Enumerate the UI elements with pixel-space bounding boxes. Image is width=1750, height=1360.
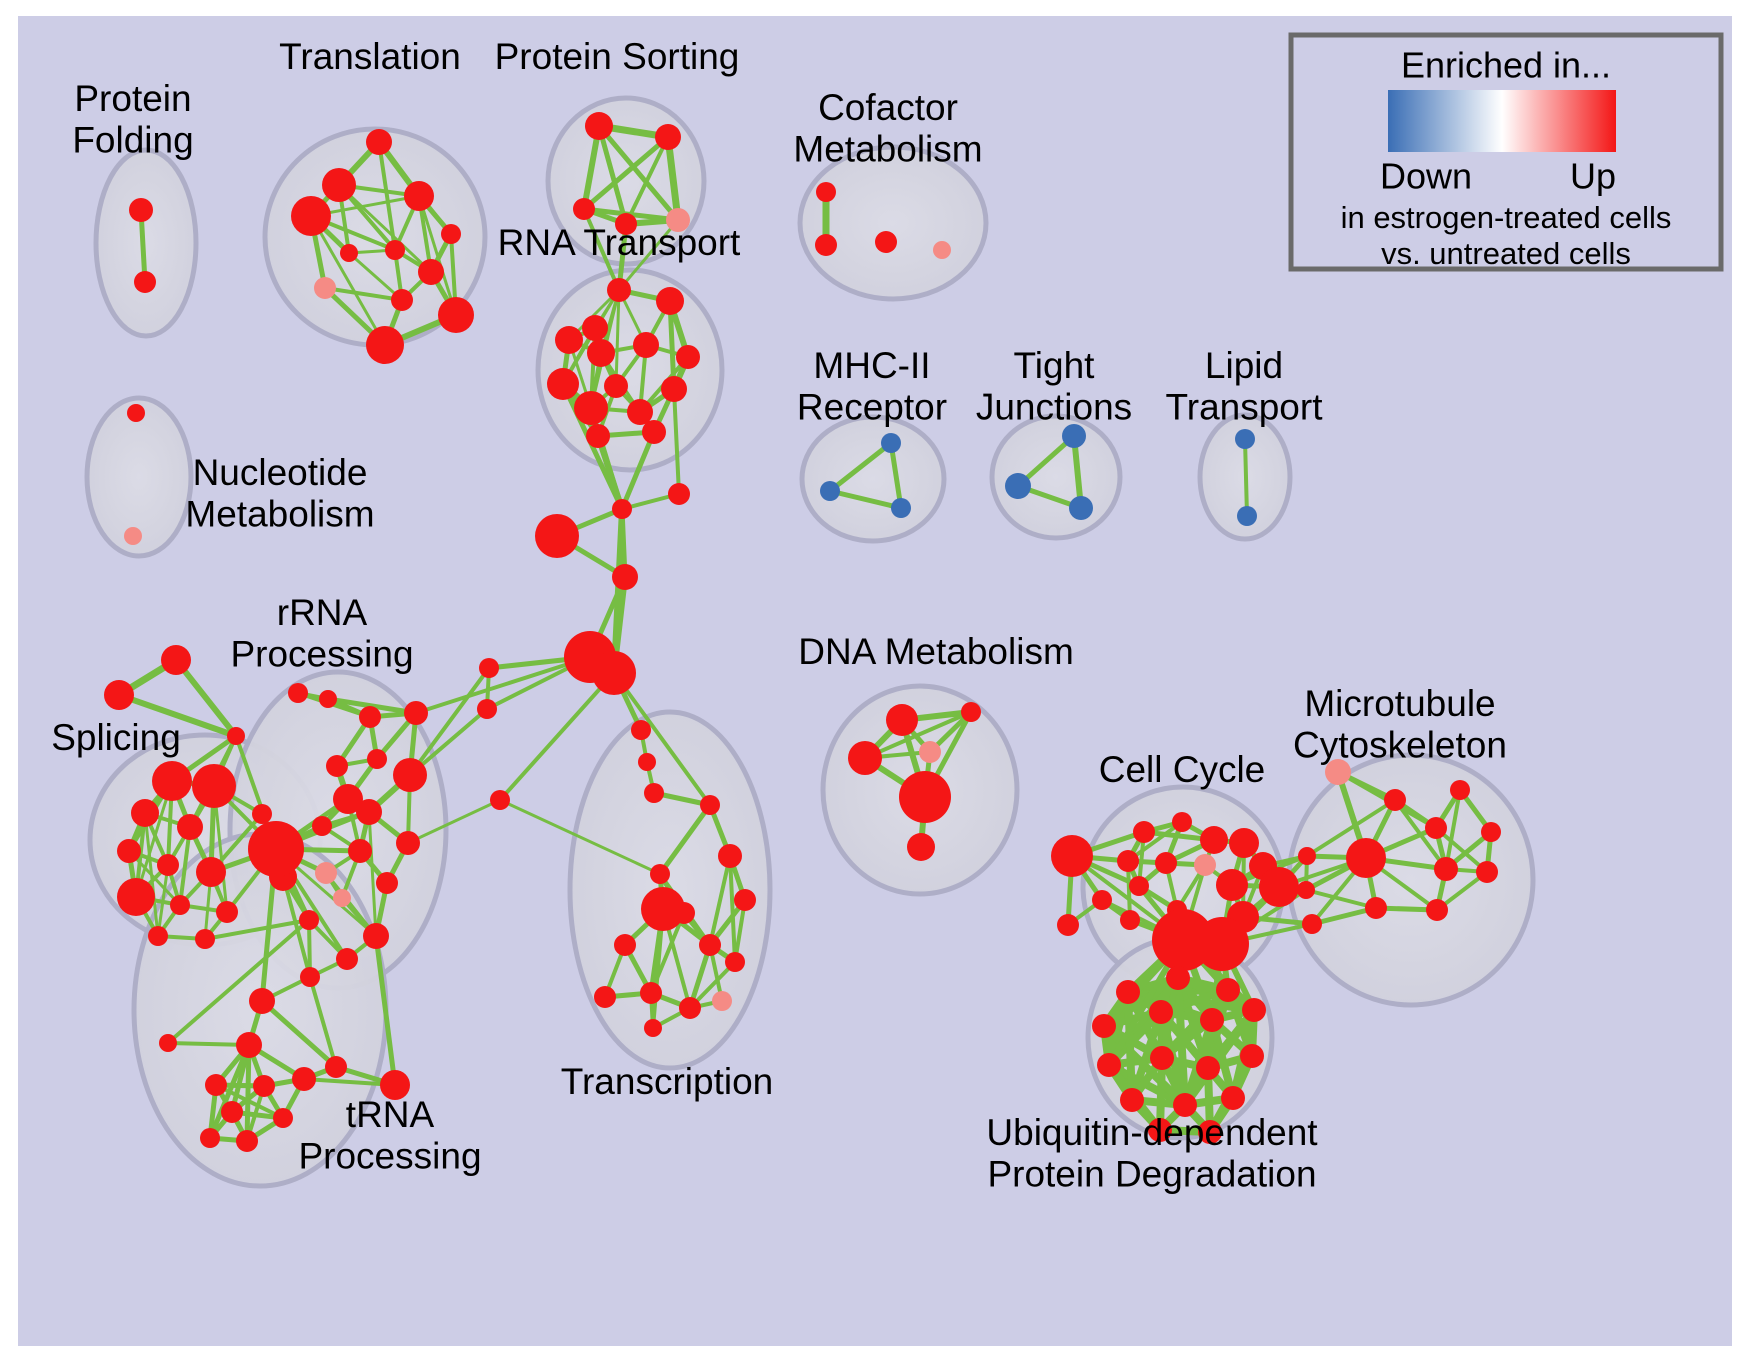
node-rrna-processing[interactable] <box>325 1056 347 1078</box>
node-translation[interactable] <box>391 289 413 311</box>
cluster-label-microtubule-cytoskeleton: MicrotubuleCytoskeleton <box>1293 683 1507 765</box>
node-microtubule-cytoskeleton[interactable] <box>1384 789 1406 811</box>
node-trna-processing[interactable] <box>236 1032 262 1058</box>
cluster-label-nucleotide-metabolism: NucleotideMetabolism <box>185 452 374 534</box>
node-splicing[interactable] <box>170 895 190 915</box>
node-tight-junctions[interactable] <box>1005 473 1031 499</box>
node-cofactor-metabolism[interactable] <box>816 182 836 202</box>
node-translation[interactable] <box>291 196 331 236</box>
node-rna-transport[interactable] <box>547 368 579 400</box>
node-ubiquitin-degradation[interactable] <box>1120 1088 1144 1112</box>
node-splicing[interactable] <box>152 761 192 801</box>
cluster-label-protein-folding: ProteinFolding <box>72 78 193 160</box>
node-splicing[interactable] <box>117 878 155 916</box>
node-ubiquitin-degradation[interactable] <box>1196 1056 1220 1080</box>
node-translation[interactable] <box>441 224 461 244</box>
node-rna-transport[interactable] <box>633 332 659 358</box>
node-rrna-processing[interactable] <box>312 816 332 836</box>
node-ubiquitin-degradation[interactable] <box>1216 978 1240 1002</box>
cluster-halo-mhc-ii-receptor <box>802 417 944 541</box>
node-protein-folding[interactable] <box>134 271 156 293</box>
node-rrna-processing[interactable] <box>367 749 387 769</box>
cluster-label-splicing: Splicing <box>51 717 181 758</box>
node-bridge[interactable] <box>612 499 632 519</box>
node-translation[interactable] <box>322 168 356 202</box>
edge-lipid-transport <box>1245 439 1247 516</box>
node-dna-metabolism[interactable] <box>848 741 882 775</box>
node-bridge[interactable] <box>479 658 499 678</box>
node-cell-cycle[interactable] <box>1120 910 1140 930</box>
node-bridge[interactable] <box>668 483 690 505</box>
node-translation[interactable] <box>340 244 358 262</box>
node-rrna-processing[interactable] <box>300 967 320 987</box>
node-cell-cycle[interactable] <box>1194 854 1216 876</box>
node-microtubule-cytoskeleton[interactable] <box>1434 857 1458 881</box>
node-cofactor-metabolism[interactable] <box>875 231 897 253</box>
node-translation[interactable] <box>314 277 336 299</box>
node-trna-processing[interactable] <box>292 1067 316 1091</box>
node-ubiquitin-degradation[interactable] <box>1097 1053 1121 1077</box>
node-trna-processing[interactable] <box>273 1108 293 1128</box>
node-dna-metabolism[interactable] <box>919 741 941 763</box>
node-dna-metabolism[interactable] <box>907 833 935 861</box>
cluster-label-ubiquitin-degradation: Ubiquitin-dependentProtein Degradation <box>986 1112 1318 1194</box>
node-bridge[interactable] <box>477 699 497 719</box>
node-rrna-processing[interactable] <box>288 683 308 703</box>
node-trna-processing[interactable] <box>159 1034 177 1052</box>
edge-trna-processing <box>247 1045 249 1141</box>
node-rrna-processing[interactable] <box>363 923 389 949</box>
node-protein-sorting[interactable] <box>585 112 613 140</box>
cluster-label-transcription: Transcription <box>561 1061 773 1102</box>
node-ubiquitin-degradation[interactable] <box>1221 1086 1245 1110</box>
node-transcription[interactable] <box>641 887 685 931</box>
node-ubiquitin-degradation[interactable] <box>1149 1000 1173 1024</box>
node-transcription[interactable] <box>640 982 662 1004</box>
node-rrna-processing[interactable] <box>326 755 348 777</box>
legend-caption-line-2: vs. untreated cells <box>1381 236 1631 271</box>
node-rna-transport[interactable] <box>582 315 608 341</box>
node-splicing[interactable] <box>177 814 203 840</box>
node-mhc-ii-receptor[interactable] <box>881 433 901 453</box>
node-trna-processing[interactable] <box>236 1130 258 1152</box>
cluster-label-dna-metabolism: DNA Metabolism <box>798 631 1074 672</box>
node-protein-sorting[interactable] <box>573 198 595 220</box>
enrichment-map-figure: ProteinFoldingTranslationProtein Sorting… <box>0 0 1750 1360</box>
node-transcription[interactable] <box>594 986 616 1008</box>
node-splicing[interactable] <box>196 857 226 887</box>
node-rna-transport[interactable] <box>586 424 610 448</box>
node-protein-sorting[interactable] <box>655 124 681 150</box>
node-rrna-processing[interactable] <box>404 701 428 725</box>
node-rrna-processing[interactable] <box>396 831 420 855</box>
node-bridge[interactable] <box>592 651 636 695</box>
node-dna-metabolism[interactable] <box>899 771 951 823</box>
node-splicing[interactable] <box>192 764 236 808</box>
legend-title: Enriched in... <box>1401 45 1611 86</box>
node-trna-processing[interactable] <box>205 1074 227 1096</box>
network-canvas: ProteinFoldingTranslationProtein Sorting… <box>0 0 1750 1360</box>
node-rrna-processing[interactable] <box>249 988 275 1014</box>
node-rrna-processing[interactable] <box>248 821 304 877</box>
node-rrna-processing[interactable] <box>359 706 381 728</box>
cluster-label-mhc-ii-receptor: MHC-IIReceptor <box>797 345 947 427</box>
node-microtubule-cytoskeleton[interactable] <box>1298 847 1316 865</box>
node-ubiquitin-degradation[interactable] <box>1240 1044 1264 1068</box>
node-translation[interactable] <box>438 297 474 333</box>
node-ubiquitin-degradation[interactable] <box>1092 1014 1116 1038</box>
node-cell-cycle[interactable] <box>1172 812 1192 832</box>
cluster-label-protein-sorting: Protein Sorting <box>495 36 740 77</box>
node-splicing[interactable] <box>148 926 168 946</box>
node-transcription[interactable] <box>614 934 636 956</box>
node-microtubule-cytoskeleton[interactable] <box>1450 780 1470 800</box>
node-ubiquitin-degradation[interactable] <box>1200 1008 1224 1032</box>
node-microtubule-cytoskeleton[interactable] <box>1346 838 1386 878</box>
node-bridge[interactable] <box>631 720 651 740</box>
node-splicing[interactable] <box>157 854 179 876</box>
node-cell-cycle[interactable] <box>1155 852 1177 874</box>
node-transcription[interactable] <box>734 889 756 911</box>
node-microtubule-cytoskeleton[interactable] <box>1425 817 1447 839</box>
node-cell-cycle[interactable] <box>1057 914 1079 936</box>
node-transcription[interactable] <box>712 991 732 1011</box>
node-trna-processing[interactable] <box>221 1101 243 1123</box>
legend-low-label: Down <box>1380 156 1472 197</box>
node-transcription[interactable] <box>650 864 670 884</box>
node-ubiquitin-degradation[interactable] <box>1242 998 1266 1022</box>
node-rna-transport[interactable] <box>642 420 666 444</box>
node-rna-transport[interactable] <box>587 339 615 367</box>
node-splicing[interactable] <box>161 645 191 675</box>
cluster-label-cofactor-metabolism: CofactorMetabolism <box>793 87 982 169</box>
node-rna-transport[interactable] <box>676 345 700 369</box>
node-rrna-processing[interactable] <box>315 862 337 884</box>
node-rna-transport[interactable] <box>656 287 684 315</box>
node-rna-transport[interactable] <box>604 374 628 398</box>
node-cell-cycle[interactable] <box>1051 835 1093 877</box>
legend-color-bar[interactable] <box>1388 90 1616 152</box>
node-cofactor-metabolism[interactable] <box>933 241 951 259</box>
node-translation[interactable] <box>385 240 405 260</box>
node-rrna-processing[interactable] <box>356 799 382 825</box>
node-transcription[interactable] <box>718 844 742 868</box>
node-lipid-transport[interactable] <box>1237 506 1257 526</box>
node-microtubule-cytoskeleton[interactable] <box>1302 914 1322 934</box>
node-mhc-ii-receptor[interactable] <box>820 481 840 501</box>
node-dna-metabolism[interactable] <box>886 704 918 736</box>
node-rrna-processing[interactable] <box>319 690 337 708</box>
node-cell-cycle[interactable] <box>1117 850 1139 872</box>
node-rrna-processing[interactable] <box>333 889 351 907</box>
node-rna-transport[interactable] <box>661 376 687 402</box>
node-rrna-processing[interactable] <box>348 839 372 863</box>
node-translation[interactable] <box>366 326 404 364</box>
node-cell-cycle[interactable] <box>1200 826 1228 854</box>
legend-high-label: Up <box>1570 156 1616 197</box>
edge-ubiquitin-degradation <box>1128 992 1132 1100</box>
node-splicing[interactable] <box>216 901 238 923</box>
node-ubiquitin-degradation[interactable] <box>1150 1046 1174 1070</box>
node-cofactor-metabolism[interactable] <box>815 234 837 256</box>
legend-panel[interactable]: Enriched in...DownUpin estrogen-treated … <box>1291 35 1721 271</box>
node-splicing[interactable] <box>117 839 141 863</box>
node-splicing[interactable] <box>104 680 134 710</box>
node-rrna-processing[interactable] <box>299 910 319 930</box>
node-transcription[interactable] <box>700 795 720 815</box>
node-trna-processing[interactable] <box>200 1128 220 1148</box>
node-lipid-transport[interactable] <box>1235 429 1255 449</box>
cluster-halo-protein-folding <box>96 150 196 336</box>
node-ubiquitin-degradation[interactable] <box>1166 966 1190 990</box>
node-rrna-processing[interactable] <box>393 758 427 792</box>
node-ubiquitin-degradation[interactable] <box>1116 980 1140 1004</box>
cluster-label-translation: Translation <box>279 36 461 77</box>
node-trna-processing[interactable] <box>253 1075 275 1097</box>
node-transcription[interactable] <box>725 952 745 972</box>
node-microtubule-cytoskeleton[interactable] <box>1481 822 1501 842</box>
node-rna-transport[interactable] <box>574 391 608 425</box>
node-cell-cycle[interactable] <box>1133 821 1155 843</box>
node-tight-junctions[interactable] <box>1062 424 1086 448</box>
node-transcription[interactable] <box>679 997 701 1019</box>
node-translation[interactable] <box>404 181 434 211</box>
node-bridge[interactable] <box>638 753 656 771</box>
node-splicing[interactable] <box>227 727 245 745</box>
node-rrna-processing[interactable] <box>376 872 398 894</box>
cluster-label-rna-transport: RNA Transport <box>498 222 741 263</box>
node-splicing[interactable] <box>131 799 159 827</box>
node-rrna-processing[interactable] <box>336 948 358 970</box>
node-transcription[interactable] <box>699 934 721 956</box>
node-microtubule-cytoskeleton[interactable] <box>1476 861 1498 883</box>
node-cell-cycle[interactable] <box>1229 828 1259 858</box>
legend-caption-line-1: in estrogen-treated cells <box>1341 200 1672 235</box>
node-nucleotide-metabolism[interactable] <box>127 404 145 422</box>
node-translation[interactable] <box>366 129 392 155</box>
node-cell-cycle[interactable] <box>1092 890 1112 910</box>
node-bridge[interactable] <box>490 790 510 810</box>
node-splicing[interactable] <box>195 929 215 949</box>
node-protein-folding[interactable] <box>129 198 153 222</box>
node-microtubule-cytoskeleton[interactable] <box>1297 881 1315 899</box>
node-bridge[interactable] <box>612 564 638 590</box>
node-splicing[interactable] <box>252 804 272 824</box>
node-transcription[interactable] <box>644 1019 662 1037</box>
node-cell-cycle[interactable] <box>1129 876 1149 896</box>
node-bridge[interactable] <box>535 514 579 558</box>
node-microtubule-cytoskeleton[interactable] <box>1365 897 1387 919</box>
cluster-label-cell-cycle: Cell Cycle <box>1099 749 1266 790</box>
node-cell-cycle[interactable] <box>1216 869 1248 901</box>
node-rna-transport[interactable] <box>555 326 583 354</box>
node-dna-metabolism[interactable] <box>961 702 981 722</box>
node-cell-cycle[interactable] <box>1259 867 1299 907</box>
node-translation[interactable] <box>418 259 444 285</box>
node-nucleotide-metabolism[interactable] <box>124 527 142 545</box>
node-mhc-ii-receptor[interactable] <box>891 498 911 518</box>
node-bridge[interactable] <box>644 783 664 803</box>
node-microtubule-cytoskeleton[interactable] <box>1426 899 1448 921</box>
node-rna-transport[interactable] <box>607 278 631 302</box>
node-cell-cycle[interactable] <box>1195 917 1249 971</box>
node-tight-junctions[interactable] <box>1069 496 1093 520</box>
